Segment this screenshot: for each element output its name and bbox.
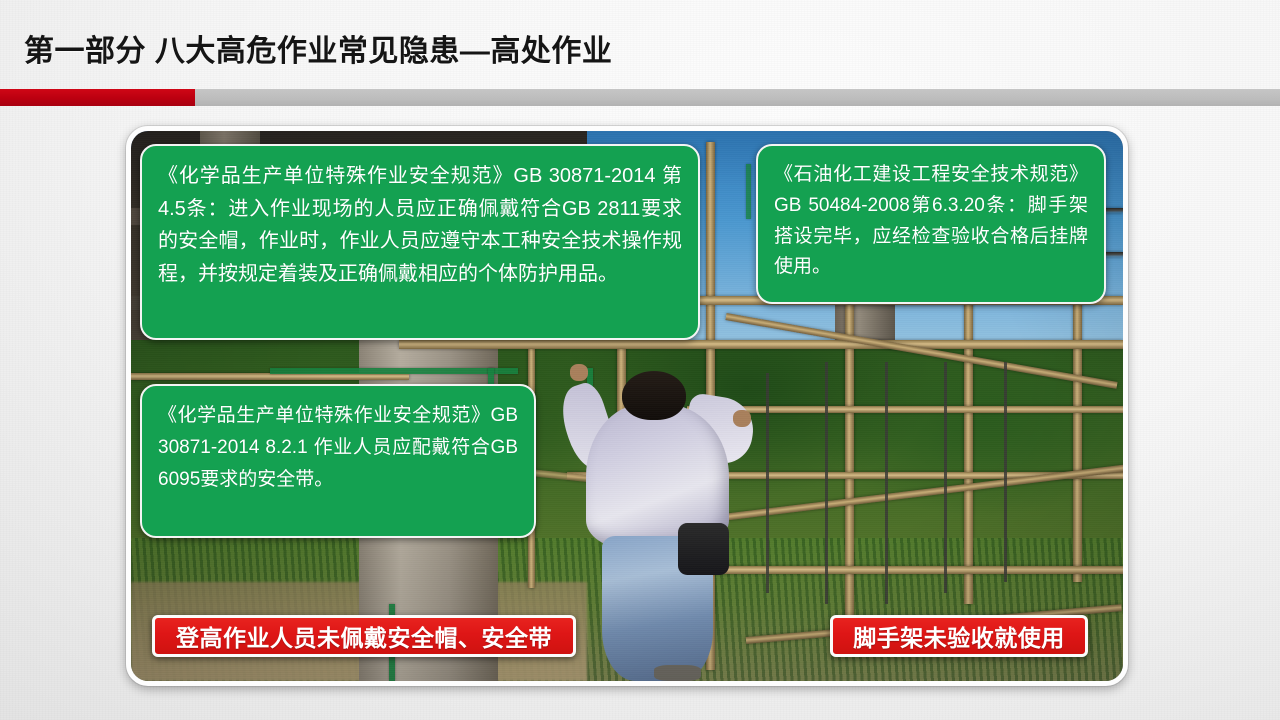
page-title: 第一部分 八大高危作业常见隐患—高处作业 [24,26,612,70]
hazard-caption-no-ppe: 登高作业人员未佩戴安全帽、安全带 [152,615,576,657]
header-rule-gray [152,89,1280,106]
header-rule-red [0,89,195,106]
regulation-callout-scaffold: 《石油化工建设工程安全技术规范》GB 50484-2008第6.3.20条：脚手… [756,144,1106,304]
regulation-callout-helmet: 《化学品生产单位特殊作业安全规范》GB 30871-2014 第4.5条：进入作… [140,144,700,340]
slide: 第一部分 八大高危作业常见隐患—高处作业 [0,0,1280,720]
regulation-callout-harness: 《化学品生产单位特殊作业安全规范》GB 30871-2014 8.2.1 作业人… [140,384,536,538]
hazard-caption-unchecked-scaffold: 脚手架未验收就使用 [830,615,1088,657]
